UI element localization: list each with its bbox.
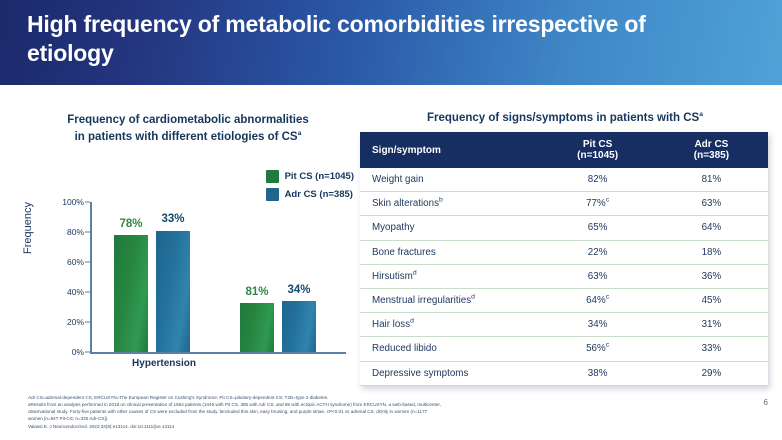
chart-panel: Frequency of cardiometabolic abnormaliti… [18, 104, 358, 394]
cell-pit-text: 22% [588, 247, 608, 258]
cell-adr-value: 63% [655, 192, 768, 216]
cell-pit-superscript: c [606, 197, 609, 204]
y-tick-label-100: 100% [62, 197, 84, 207]
cell-pit-value: 82% [540, 168, 654, 192]
cell-adr-value: 18% [655, 240, 768, 264]
cell-symptom: Bone fractures [360, 240, 540, 264]
legend-label-adr-cs: Adr CS (n=385) [285, 189, 353, 200]
table-title-text: Frequency of signs/symptoms in patients … [427, 112, 699, 124]
cell-pit-text: 56% [586, 343, 606, 354]
table-row: Depressive symptoms 38% 29% [360, 361, 768, 385]
bar-groups: 78% 33% Hypertension 81% 34% T2D [92, 202, 346, 352]
chart-title-line2: in patients with different etiologies of… [75, 131, 298, 143]
table-row: Menstrual irregularitiesd 64%c 45% [360, 288, 768, 312]
cell-pit-value: 34% [540, 313, 654, 337]
footnote-abbreviations: Adr CS=adrenal-dependent CS; ERCUSYN=The… [28, 395, 758, 402]
cell-symptom-superscript: b [439, 197, 443, 204]
table-title: Frequency of signs/symptoms in patients … [360, 112, 770, 124]
chart-title: Frequency of cardiometabolic abnormaliti… [18, 112, 358, 145]
legend-item-pit-cs: Pit CS (n=1045) [266, 170, 354, 183]
cell-pit-superscript: c [606, 294, 609, 301]
column-header-symptom: Sign/symptom [360, 132, 540, 168]
cell-pit-value: 64%c [540, 288, 654, 312]
bar-value-hypertension-pit: 78% [108, 218, 154, 230]
cell-adr-value: 36% [655, 264, 768, 288]
bar-t2d-adr [282, 301, 316, 352]
chart-title-line1: Frequency of cardiometabolic abnormaliti… [67, 114, 309, 126]
cell-symptom-text: Bone fractures [372, 247, 436, 258]
cell-pit-text: 64% [586, 295, 606, 306]
cell-pit-value: 63% [540, 264, 654, 288]
cell-symptom-text: Weight gain [372, 174, 424, 185]
bar-value-t2d-adr: 34% [276, 284, 322, 296]
cell-adr-value: 45% [655, 288, 768, 312]
cell-pit-text: 63% [588, 271, 608, 282]
cell-adr-value: 29% [655, 361, 768, 385]
column-header-adr-cs-name: Adr CS [694, 139, 728, 150]
table-row: Hirsutismd 63% 36% [360, 264, 768, 288]
y-axis-ticks: 100% 80% 60% 40% 20% 0% [50, 202, 90, 352]
legend-swatch-adr-cs [266, 188, 279, 201]
legend-swatch-pit-cs [266, 170, 279, 183]
bar-chart-plot: Frequency 100% 80% 60% 40% 20% 0% 78% 33… [36, 202, 348, 374]
page-number: 6 [764, 398, 768, 407]
cell-symptom-text: Myopathy [372, 222, 414, 233]
cell-symptom-superscript: d [410, 318, 414, 325]
footnote-line-3: observational study. Forty-five patients… [28, 409, 758, 416]
cell-adr-value: 33% [655, 337, 768, 361]
x-axis-label-hypertension: Hypertension [104, 358, 224, 369]
title-banner: High frequency of metabolic comorbiditie… [0, 0, 782, 85]
legend-label-pit-cs: Pit CS (n=1045) [285, 171, 354, 182]
signs-symptoms-table: Sign/symptom Pit CS (n=1045) Adr CS (n=3… [360, 132, 768, 386]
column-header-pit-cs-n: (n=1045) [550, 150, 644, 161]
column-header-pit-cs-name: Pit CS [583, 139, 612, 150]
y-axis-title: Frequency [22, 202, 34, 254]
cell-symptom-superscript: d [413, 270, 417, 277]
cell-pit-text: 34% [588, 319, 608, 330]
cell-symptom-text: Menstrual irregularities [372, 295, 471, 306]
bar-hypertension-adr [156, 231, 190, 353]
y-tick-label-60: 60% [67, 257, 84, 267]
cell-pit-value: 22% [540, 240, 654, 264]
chart-legend: Pit CS (n=1045) Adr CS (n=385) [266, 170, 354, 206]
legend-item-adr-cs: Adr CS (n=385) [266, 188, 354, 201]
table-title-superscript: a [699, 111, 703, 118]
cell-symptom: Weight gain [360, 168, 540, 192]
cell-symptom: Menstrual irregularitiesd [360, 288, 540, 312]
y-tick-label-80: 80% [67, 227, 84, 237]
table-body: Weight gain 82% 81% Skin alterationsb 77… [360, 168, 768, 385]
table-row: Hair lossd 34% 31% [360, 313, 768, 337]
cell-pit-text: 38% [588, 368, 608, 379]
cell-pit-value: 38% [540, 361, 654, 385]
table-panel: Frequency of signs/symptoms in patients … [360, 112, 770, 386]
cell-symptom-text: Depressive symptoms [372, 368, 468, 379]
cell-pit-text: 82% [588, 174, 608, 185]
footnote-line-4: women [n=847 Pit-CS; n=330 Adr-CS]). [28, 416, 758, 423]
cell-pit-text: 77% [586, 198, 606, 209]
column-header-adr-cs: Adr CS (n=385) [655, 132, 768, 168]
cell-pit-value: 56%c [540, 337, 654, 361]
footnotes: Adr CS=adrenal-dependent CS; ERCUSYN=The… [28, 395, 758, 431]
bar-group-t2d: 81% 34% T2D [232, 202, 328, 352]
cell-adr-value: 64% [655, 216, 768, 240]
cell-symptom: Depressive symptoms [360, 361, 540, 385]
cell-symptom-text: Reduced libido [372, 343, 437, 354]
y-tick-label-20: 20% [67, 317, 84, 327]
cell-symptom: Skin alterationsb [360, 192, 540, 216]
cell-symptom-text: Skin alterations [372, 198, 439, 209]
bar-group-hypertension: 78% 33% Hypertension [106, 202, 202, 352]
table-row: Myopathy 65% 64% [360, 216, 768, 240]
table-header-row: Sign/symptom Pit CS (n=1045) Adr CS (n=3… [360, 132, 768, 168]
x-axis-line [90, 352, 346, 354]
footnote-citation: Valassi E. J Neuroendocrinol. 2022;34(8)… [28, 424, 758, 431]
bar-t2d-pit [240, 303, 274, 353]
table-row: Reduced libido 56%c 33% [360, 337, 768, 361]
footnote-line-2: aResults from an analysis performed in 2… [28, 402, 758, 409]
cell-symptom: Reduced libido [360, 337, 540, 361]
cell-symptom-text: Hair loss [372, 319, 410, 330]
y-tick-label-40: 40% [67, 287, 84, 297]
cell-pit-superscript: c [606, 342, 609, 349]
cell-pit-text: 65% [588, 222, 608, 233]
bar-value-hypertension-adr: 33% [150, 213, 196, 225]
cell-pit-value: 65% [540, 216, 654, 240]
chart-title-superscript: a [298, 130, 302, 137]
page-title: High frequency of metabolic comorbiditie… [27, 10, 727, 68]
table-row: Weight gain 82% 81% [360, 168, 768, 192]
bar-value-t2d-pit: 81% [234, 286, 280, 298]
table-row: Skin alterationsb 77%c 63% [360, 192, 768, 216]
cell-adr-value: 31% [655, 313, 768, 337]
cell-pit-value: 77%c [540, 192, 654, 216]
cell-symptom: Myopathy [360, 216, 540, 240]
cell-adr-value: 81% [655, 168, 768, 192]
column-header-pit-cs: Pit CS (n=1045) [540, 132, 654, 168]
cell-symptom: Hirsutismd [360, 264, 540, 288]
table-row: Bone fractures 22% 18% [360, 240, 768, 264]
cell-symptom: Hair lossd [360, 313, 540, 337]
cell-symptom-text: Hirsutism [372, 271, 413, 282]
y-tick-label-0: 0% [72, 347, 84, 357]
column-header-adr-cs-n: (n=385) [665, 150, 758, 161]
cell-symptom-superscript: d [471, 294, 475, 301]
bar-hypertension-pit [114, 235, 148, 352]
table-header: Sign/symptom Pit CS (n=1045) Adr CS (n=3… [360, 132, 768, 168]
